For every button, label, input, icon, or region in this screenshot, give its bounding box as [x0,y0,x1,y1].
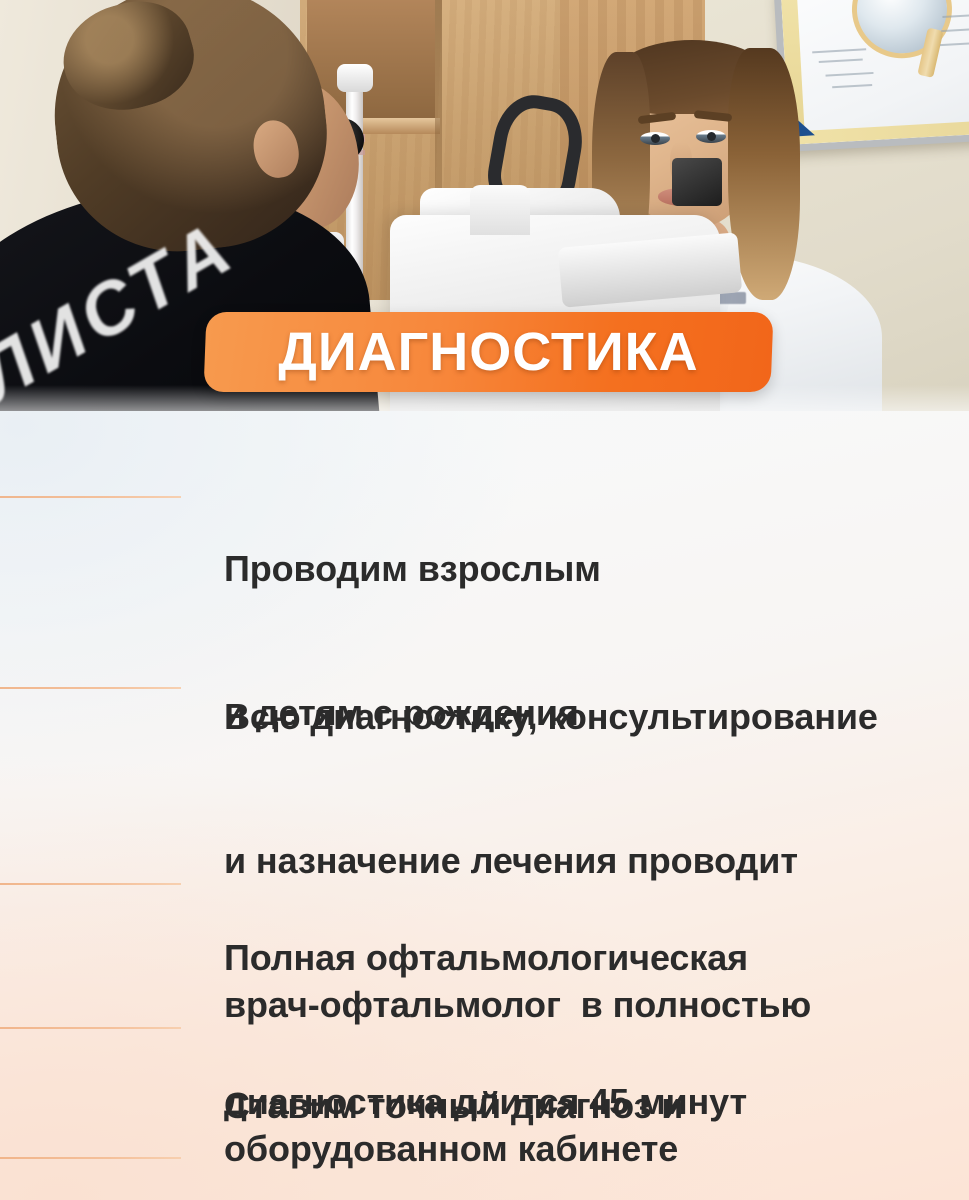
divider-rule-4 [0,1027,181,1029]
poster-corner-mark [798,119,815,136]
eye-anatomy-poster-frame [774,0,969,152]
doctor-pupil-right [707,132,716,141]
feature-line: Ставим точный диагноз и [224,1082,683,1130]
content-panel: Проводим взрослым и детям с рождения Всю… [0,411,969,1200]
divider-rule-1 [0,496,181,498]
device-left-module [470,185,530,235]
divider-rule-2 [0,687,181,689]
diagnostics-poster: ЛИСТА ДИАГНОСТИКА Проводим взрослым и де… [0,0,969,1200]
feature-line: Всю диагностику, консультирование [224,693,878,741]
diagnostics-banner: ДИАГНОСТИКА [203,312,773,392]
feature-block-responsibility: Несем ответственность за результат [224,1124,877,1200]
divider-rule-5 [0,1157,181,1159]
feature-line: Проводим взрослым [224,545,601,593]
doctor-pupil-left [651,134,660,143]
divider-rule-3 [0,883,181,885]
banner-title: ДИАГНОСТИКА [205,312,772,392]
device-dark-module [672,158,722,206]
feature-line: Полная офтальмологическая [224,934,748,982]
device-top-knob [337,64,373,92]
